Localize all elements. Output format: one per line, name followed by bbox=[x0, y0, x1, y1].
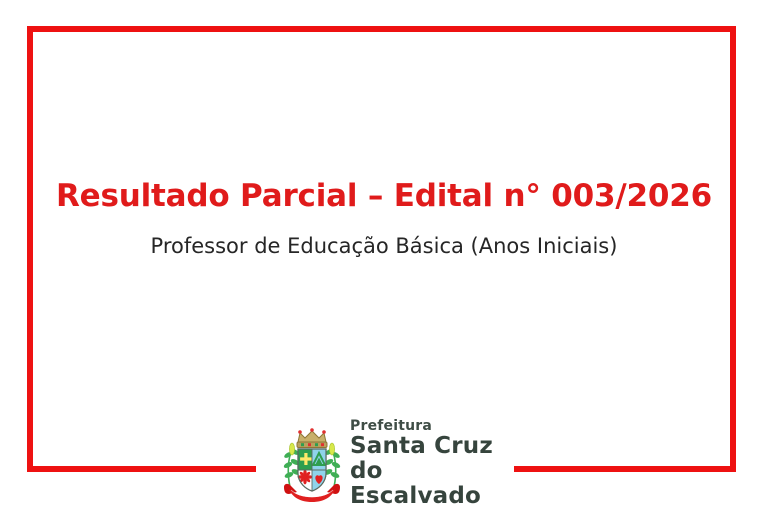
coat-of-arms-icon bbox=[280, 425, 344, 503]
logo-wordmark: Prefeitura Santa Cruz do Escalvado bbox=[350, 419, 512, 508]
slide-canvas: Resultado Parcial – Edital n° 003/2026 P… bbox=[0, 0, 768, 512]
page-subtitle: Professor de Educação Básica (Anos Inici… bbox=[0, 234, 768, 258]
logo-city-line-2: do Escalvado bbox=[350, 459, 512, 509]
page-title: Resultado Parcial – Edital n° 003/2026 bbox=[0, 178, 768, 214]
shield-part bbox=[298, 449, 326, 491]
logo-prefecture-label: Prefeitura bbox=[350, 419, 512, 433]
footer-logo: Prefeitura Santa Cruz do Escalvado bbox=[280, 424, 512, 504]
crown-part bbox=[297, 428, 327, 447]
logo-city-line-1: Santa Cruz bbox=[350, 434, 512, 459]
